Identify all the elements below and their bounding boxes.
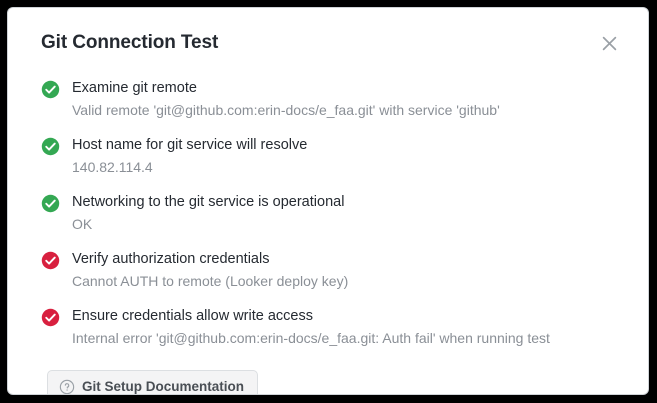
git-setup-documentation-button[interactable]: Git Setup Documentation	[47, 370, 258, 394]
close-icon	[602, 36, 617, 51]
dialog-footer: Git Setup Documentation	[8, 348, 648, 394]
check-circle-icon	[41, 80, 60, 99]
page-title: Git Connection Test	[41, 31, 218, 55]
test-detail: 140.82.114.4	[72, 158, 618, 177]
dialog-header: Git Connection Test	[8, 8, 648, 56]
test-label: Networking to the git service is operati…	[72, 194, 344, 210]
help-circle-icon	[59, 379, 75, 394]
git-connection-test-dialog: Git Connection Test Examine g	[8, 8, 648, 394]
check-circle-icon	[41, 194, 60, 213]
test-detail: Valid remote 'git@github.com:erin-docs/e…	[72, 101, 618, 120]
list-item: Verify authorization credentials Cannot …	[41, 250, 618, 291]
check-circle-icon	[41, 137, 60, 156]
list-item: Networking to the git service is operati…	[41, 193, 618, 234]
test-detail: OK	[72, 215, 618, 234]
test-label: Ensure credentials allow write access	[72, 308, 313, 324]
test-detail: Cannot AUTH to remote (Looker deploy key…	[72, 272, 618, 291]
dialog-frame: Git Connection Test Examine g	[0, 0, 657, 403]
check-circle-icon	[41, 251, 60, 270]
git-setup-documentation-label: Git Setup Documentation	[82, 379, 244, 394]
test-result-list: Examine git remote Valid remote 'git@git…	[8, 56, 648, 348]
test-label: Verify authorization credentials	[72, 251, 269, 267]
close-button[interactable]	[596, 30, 622, 56]
test-label: Host name for git service will resolve	[72, 137, 307, 153]
test-detail: Internal error 'git@github.com:erin-docs…	[72, 329, 618, 348]
test-label: Examine git remote	[72, 80, 197, 96]
check-circle-icon	[41, 308, 60, 327]
list-item: Examine git remote Valid remote 'git@git…	[41, 79, 618, 120]
list-item: Ensure credentials allow write access In…	[41, 307, 618, 348]
list-item: Host name for git service will resolve 1…	[41, 136, 618, 177]
